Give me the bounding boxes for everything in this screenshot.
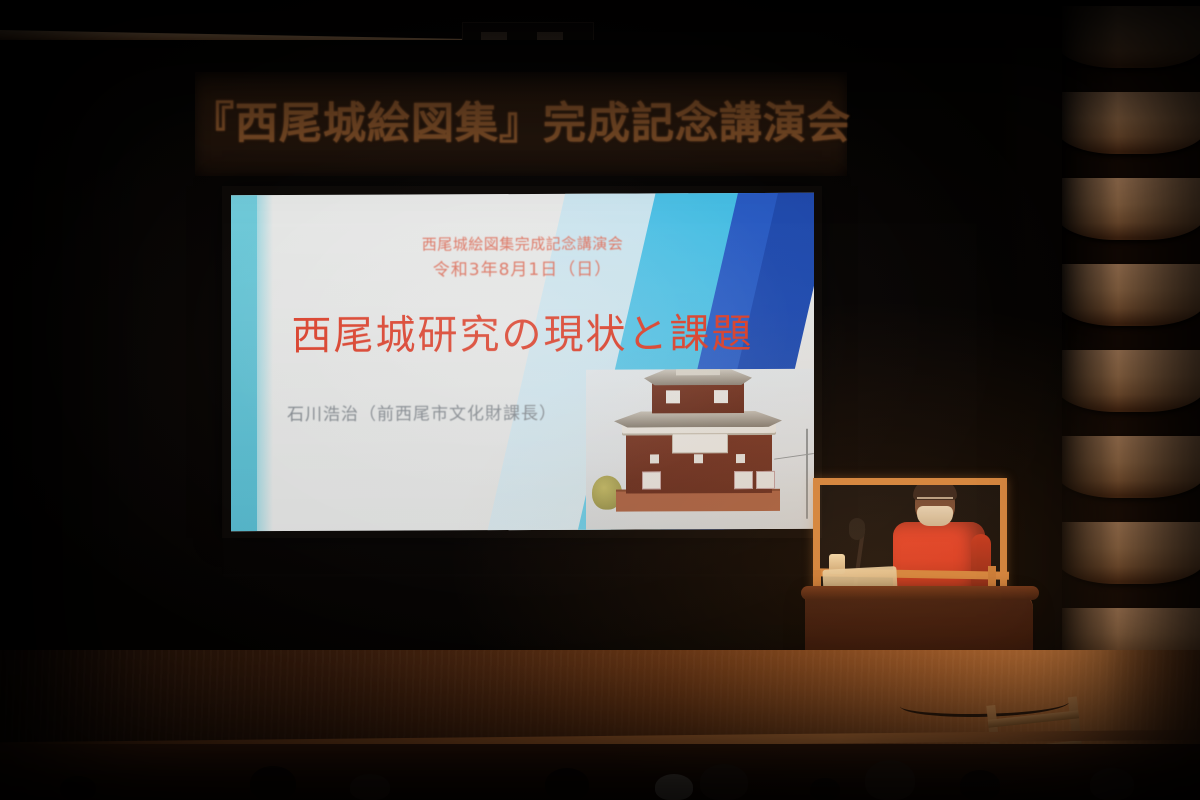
- slide-speaker-name: 石川浩治（前西尾市文化財課長）: [287, 399, 557, 425]
- event-banner: 『西尾城絵図集』完成記念講演会: [195, 72, 847, 176]
- ribbed-wall-panel: [1062, 0, 1200, 742]
- audience-area: [0, 744, 1200, 800]
- event-banner-text: 『西尾城絵図集』完成記念講演会: [191, 103, 851, 146]
- slide-title: 西尾城研究の現状と課題: [231, 301, 814, 362]
- castle-icon: [586, 369, 814, 530]
- slide-subtitle-line1: 西尾城絵図集完成記念講演会: [231, 233, 814, 257]
- slide-subtitle-line2: 令和3年8月1日（日）: [231, 256, 814, 283]
- projection-screen: 西尾城絵図集完成記念講演会 令和3年8月1日（日） 西尾城研究の現状と課題 石川…: [222, 186, 822, 538]
- lectern-top: [801, 586, 1039, 600]
- presentation-slide: 西尾城絵図集完成記念講演会 令和3年8月1日（日） 西尾城研究の現状と課題 石川…: [231, 193, 814, 532]
- lecture-hall-photo: 『西尾城絵図集』完成記念講演会 西尾城絵図集完成記念講演会 令和3年8月1日（日…: [0, 0, 1200, 800]
- slide-subtitle-block: 西尾城絵図集完成記念講演会 令和3年8月1日（日）: [231, 233, 814, 284]
